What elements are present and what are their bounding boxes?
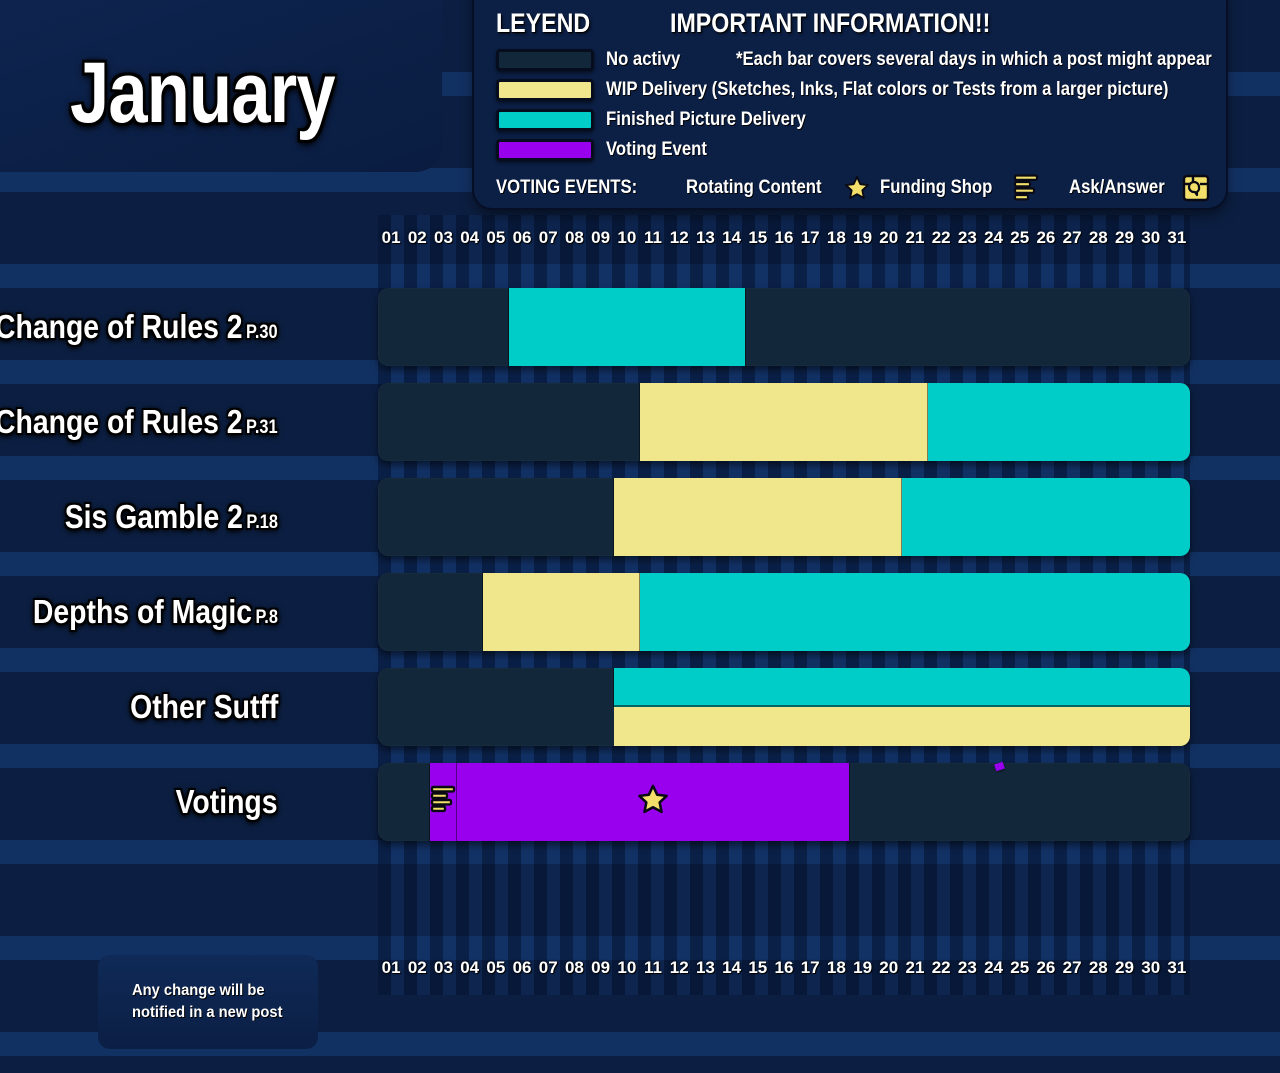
- legend-item-label: No activy: [606, 49, 680, 71]
- row-track: [378, 288, 1190, 366]
- day-number: 05: [483, 228, 509, 248]
- day-number: 06: [509, 228, 535, 248]
- day-number: 17: [797, 228, 823, 248]
- day-number: 19: [850, 958, 876, 978]
- day-number: 14: [719, 958, 745, 978]
- chart-row: Sis Gamble 2P.18: [378, 478, 1190, 556]
- row-label: Sis Gamble 2P.18: [30, 498, 278, 536]
- bar-segment-finished: [640, 573, 1190, 651]
- no-activity-swatch: [496, 49, 594, 71]
- day-number: 18: [823, 958, 849, 978]
- day-number: 01: [378, 228, 404, 248]
- day-number: 25: [1007, 958, 1033, 978]
- day-number: 04: [457, 228, 483, 248]
- bar-segment-wip: [614, 478, 902, 556]
- day-number: 29: [1112, 958, 1138, 978]
- day-number: 03: [430, 958, 456, 978]
- day-number: 28: [1085, 958, 1111, 978]
- day-number: 09: [588, 228, 614, 248]
- day-number: 07: [535, 958, 561, 978]
- day-number: 14: [719, 228, 745, 248]
- day-number: 30: [1138, 228, 1164, 248]
- bar-segment-finished: [509, 288, 745, 366]
- row-label: Other Sutff: [106, 688, 278, 726]
- day-number: 20: [876, 228, 902, 248]
- funding-shop-icon: [1012, 173, 1040, 203]
- day-number: 15: [745, 228, 771, 248]
- legend-item-finished: Finished Picture Delivery: [496, 105, 1210, 135]
- day-number: 02: [404, 228, 430, 248]
- day-number: 08: [561, 228, 587, 248]
- day-number: 16: [771, 958, 797, 978]
- day-number: 30: [1138, 958, 1164, 978]
- day-number: 13: [692, 958, 718, 978]
- day-number: 12: [666, 228, 692, 248]
- day-number: 23: [954, 228, 980, 248]
- day-number: 23: [954, 958, 980, 978]
- voting-event-funding-shop: Funding Shop: [880, 173, 1040, 203]
- day-number: 08: [561, 958, 587, 978]
- row-track: [378, 668, 1190, 746]
- footer-note-text: Any change will benotified in a new post: [132, 980, 282, 1023]
- row-label-page: P.30: [246, 322, 278, 343]
- funding-shop-icon: [429, 785, 457, 820]
- day-number: 11: [640, 228, 666, 248]
- legend-item-wip: WIP Delivery (Sketches, Inks, Flat color…: [496, 75, 1210, 105]
- day-number: 28: [1085, 228, 1111, 248]
- bar-segment-finished: [928, 383, 1190, 461]
- row-label-page: P.31: [246, 417, 278, 438]
- finished-swatch: [496, 109, 594, 131]
- day-number: 20: [876, 958, 902, 978]
- voting-event-label: Ask/Answer: [1069, 177, 1165, 199]
- chart-rows: Change of Rules 2P.30Change of Rules 2P.…: [378, 288, 1190, 841]
- day-number: 01: [378, 958, 404, 978]
- chart-row: Other Sutff: [378, 668, 1190, 746]
- legend-items: No activy *Each bar covers several days …: [496, 45, 1210, 165]
- day-number: 26: [1033, 228, 1059, 248]
- voting-events-label: VOTING EVENTS:: [496, 177, 637, 199]
- bar-segment-wip: [483, 573, 640, 651]
- footer-note: Any change will benotified in a new post: [98, 955, 318, 1049]
- day-header-row: 0102030405060708091011121314151617181920…: [378, 228, 1190, 260]
- legend-note: *Each bar covers several days in which a…: [736, 49, 1212, 71]
- day-number: 15: [745, 958, 771, 978]
- bar-segment-finished: [614, 668, 1190, 707]
- voting-event-rotating-content: Rotating Content: [686, 175, 870, 201]
- day-number: 26: [1033, 958, 1059, 978]
- row-label: Change of Rules 2P.30: [0, 308, 278, 346]
- day-number: 22: [928, 228, 954, 248]
- legend-item-no-activity: No activy *Each bar covers several days …: [496, 45, 1210, 75]
- chart-row: Votings: [378, 763, 1190, 841]
- day-number: 02: [404, 958, 430, 978]
- row-label-title: Change of Rules 2: [0, 308, 243, 345]
- row-label-page: P.18: [246, 512, 278, 533]
- row-label: Change of Rules 2P.31: [0, 403, 278, 441]
- day-number: 07: [535, 228, 561, 248]
- legend-panel: LEYEND IMPORTANT INFORMATION!! No activy…: [474, 0, 1226, 208]
- day-number: 31: [1164, 228, 1190, 248]
- day-number: 17: [797, 958, 823, 978]
- chart-row: Change of Rules 2P.31: [378, 383, 1190, 461]
- bar-segment-finished: [902, 478, 1190, 556]
- day-number: 21: [902, 958, 928, 978]
- bar-segment-wip: [614, 707, 1190, 746]
- voting-event-ask-answer: Ask/Answer: [1069, 174, 1210, 202]
- day-number: 29: [1112, 228, 1138, 248]
- row-label: Depths of MagicP.8: [0, 593, 278, 631]
- wip-swatch: [496, 79, 594, 101]
- day-number: 12: [666, 958, 692, 978]
- day-number: 09: [588, 958, 614, 978]
- voting-event-label: Funding Shop: [880, 177, 992, 199]
- voting-event-label: Rotating Content: [686, 177, 822, 199]
- schedule-chart: 0102030405060708091011121314151617181920…: [378, 228, 1190, 858]
- bar-segment-wip: [640, 383, 928, 461]
- day-number: 05: [483, 958, 509, 978]
- row-label-page: P.8: [256, 607, 278, 628]
- row-track: [378, 383, 1190, 461]
- page-title: January: [70, 44, 335, 143]
- row-label-title: Change of Rules 2: [0, 403, 243, 440]
- day-number: 10: [614, 228, 640, 248]
- row-track: [378, 573, 1190, 651]
- legend-item-voting: Voting Event: [496, 135, 1210, 165]
- legend-item-label: WIP Delivery (Sketches, Inks, Flat color…: [606, 79, 1168, 101]
- row-label-title: Sis Gamble 2: [65, 498, 243, 535]
- day-number: 19: [850, 228, 876, 248]
- ask-answer-icon: [1182, 174, 1210, 202]
- star-icon: [844, 175, 870, 201]
- day-number: 31: [1164, 958, 1190, 978]
- day-number: 04: [457, 958, 483, 978]
- day-number: 27: [1059, 958, 1085, 978]
- voting-swatch: [496, 139, 594, 161]
- day-footer-row: 0102030405060708091011121314151617181920…: [378, 958, 1190, 990]
- day-number: 11: [640, 958, 666, 978]
- legend-headings: LEYEND IMPORTANT INFORMATION!!: [496, 8, 1210, 39]
- row-label-title: Votings: [176, 783, 278, 820]
- row-label-title: Depths of Magic: [33, 593, 252, 630]
- row-label-title: Other Sutff: [130, 688, 278, 725]
- legend-item-label: Finished Picture Delivery: [606, 109, 806, 131]
- legend-heading: LEYEND: [496, 8, 590, 39]
- star-icon: [637, 784, 669, 821]
- voting-events-legend: VOTING EVENTS: Rotating Content Funding …: [496, 173, 1210, 203]
- day-number: 24: [981, 228, 1007, 248]
- row-label: Votings: [159, 783, 278, 821]
- day-number: 16: [771, 228, 797, 248]
- day-number: 06: [509, 958, 535, 978]
- day-number: 10: [614, 958, 640, 978]
- row-track: [378, 763, 1190, 841]
- chart-row: Change of Rules 2P.30: [378, 288, 1190, 366]
- day-number: 24: [981, 958, 1007, 978]
- day-number: 22: [928, 958, 954, 978]
- day-number: 25: [1007, 228, 1033, 248]
- day-number: 27: [1059, 228, 1085, 248]
- day-number: 21: [902, 228, 928, 248]
- chart-row: Depths of MagicP.8: [378, 573, 1190, 651]
- day-number: 03: [430, 228, 456, 248]
- row-track: [378, 478, 1190, 556]
- day-number: 13: [692, 228, 718, 248]
- legend-item-label: Voting Event: [606, 139, 707, 161]
- important-information-heading: IMPORTANT INFORMATION!!: [670, 8, 990, 39]
- day-number: 18: [823, 228, 849, 248]
